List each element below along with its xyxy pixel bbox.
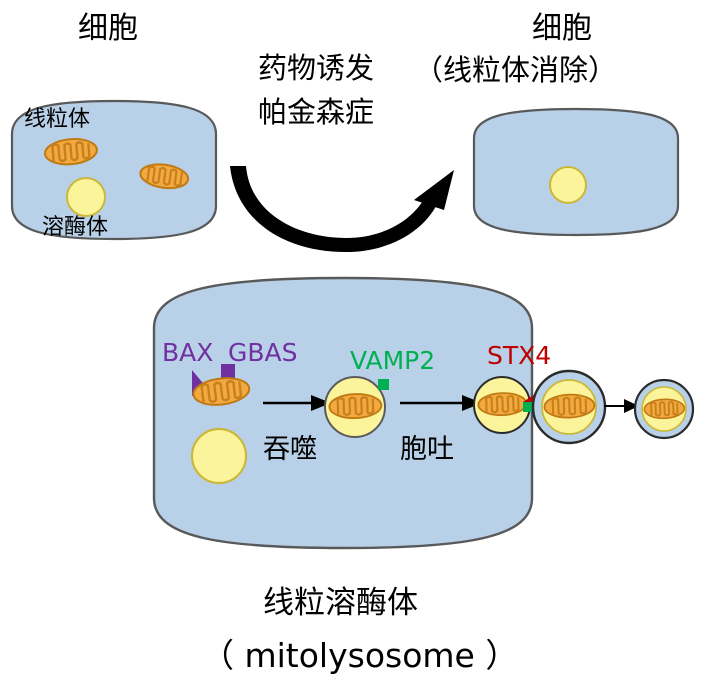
top-right-cell-title: 细胞	[532, 12, 592, 46]
figure-canvas: 细胞 线粒体 溶酶体 药物诱发 帕金森症	[0, 0, 710, 698]
top-left-cell-title: 细胞	[78, 12, 138, 46]
gbas-square-icon	[221, 364, 235, 378]
mitolysosome-vamp2	[320, 368, 398, 442]
lysosome	[550, 167, 586, 203]
released-mitolysosome-1	[530, 368, 608, 446]
cell-after	[466, 104, 686, 240]
step-label-engulfment: 吞噬	[263, 435, 317, 465]
label-mitochondria: 线粒体	[24, 108, 90, 133]
lysosome	[67, 178, 105, 216]
caption-cjk: 线粒溶酶体	[263, 586, 418, 621]
marker-label-stx4: STX4	[487, 343, 551, 369]
curved-arrow-icon	[228, 152, 458, 252]
top-right-cell-subtitle: （线粒体消除）	[414, 54, 617, 86]
mitochondrion-with-markers	[182, 358, 268, 414]
step-label-exocytosis: 胞吐	[400, 435, 454, 465]
transition-line-1: 药物诱发	[258, 52, 374, 84]
released-mitolysosome-2	[632, 377, 696, 441]
transition-line-2: 帕金森症	[258, 96, 374, 128]
lysosome	[187, 424, 251, 488]
label-lysosome: 溶酶体	[42, 216, 108, 241]
vamp2-square-icon	[378, 379, 389, 390]
mitolysosome-at-membrane	[471, 372, 537, 438]
caption-latin: （ mitolysosome ）	[201, 639, 518, 674]
cell-after-shape	[466, 104, 686, 240]
